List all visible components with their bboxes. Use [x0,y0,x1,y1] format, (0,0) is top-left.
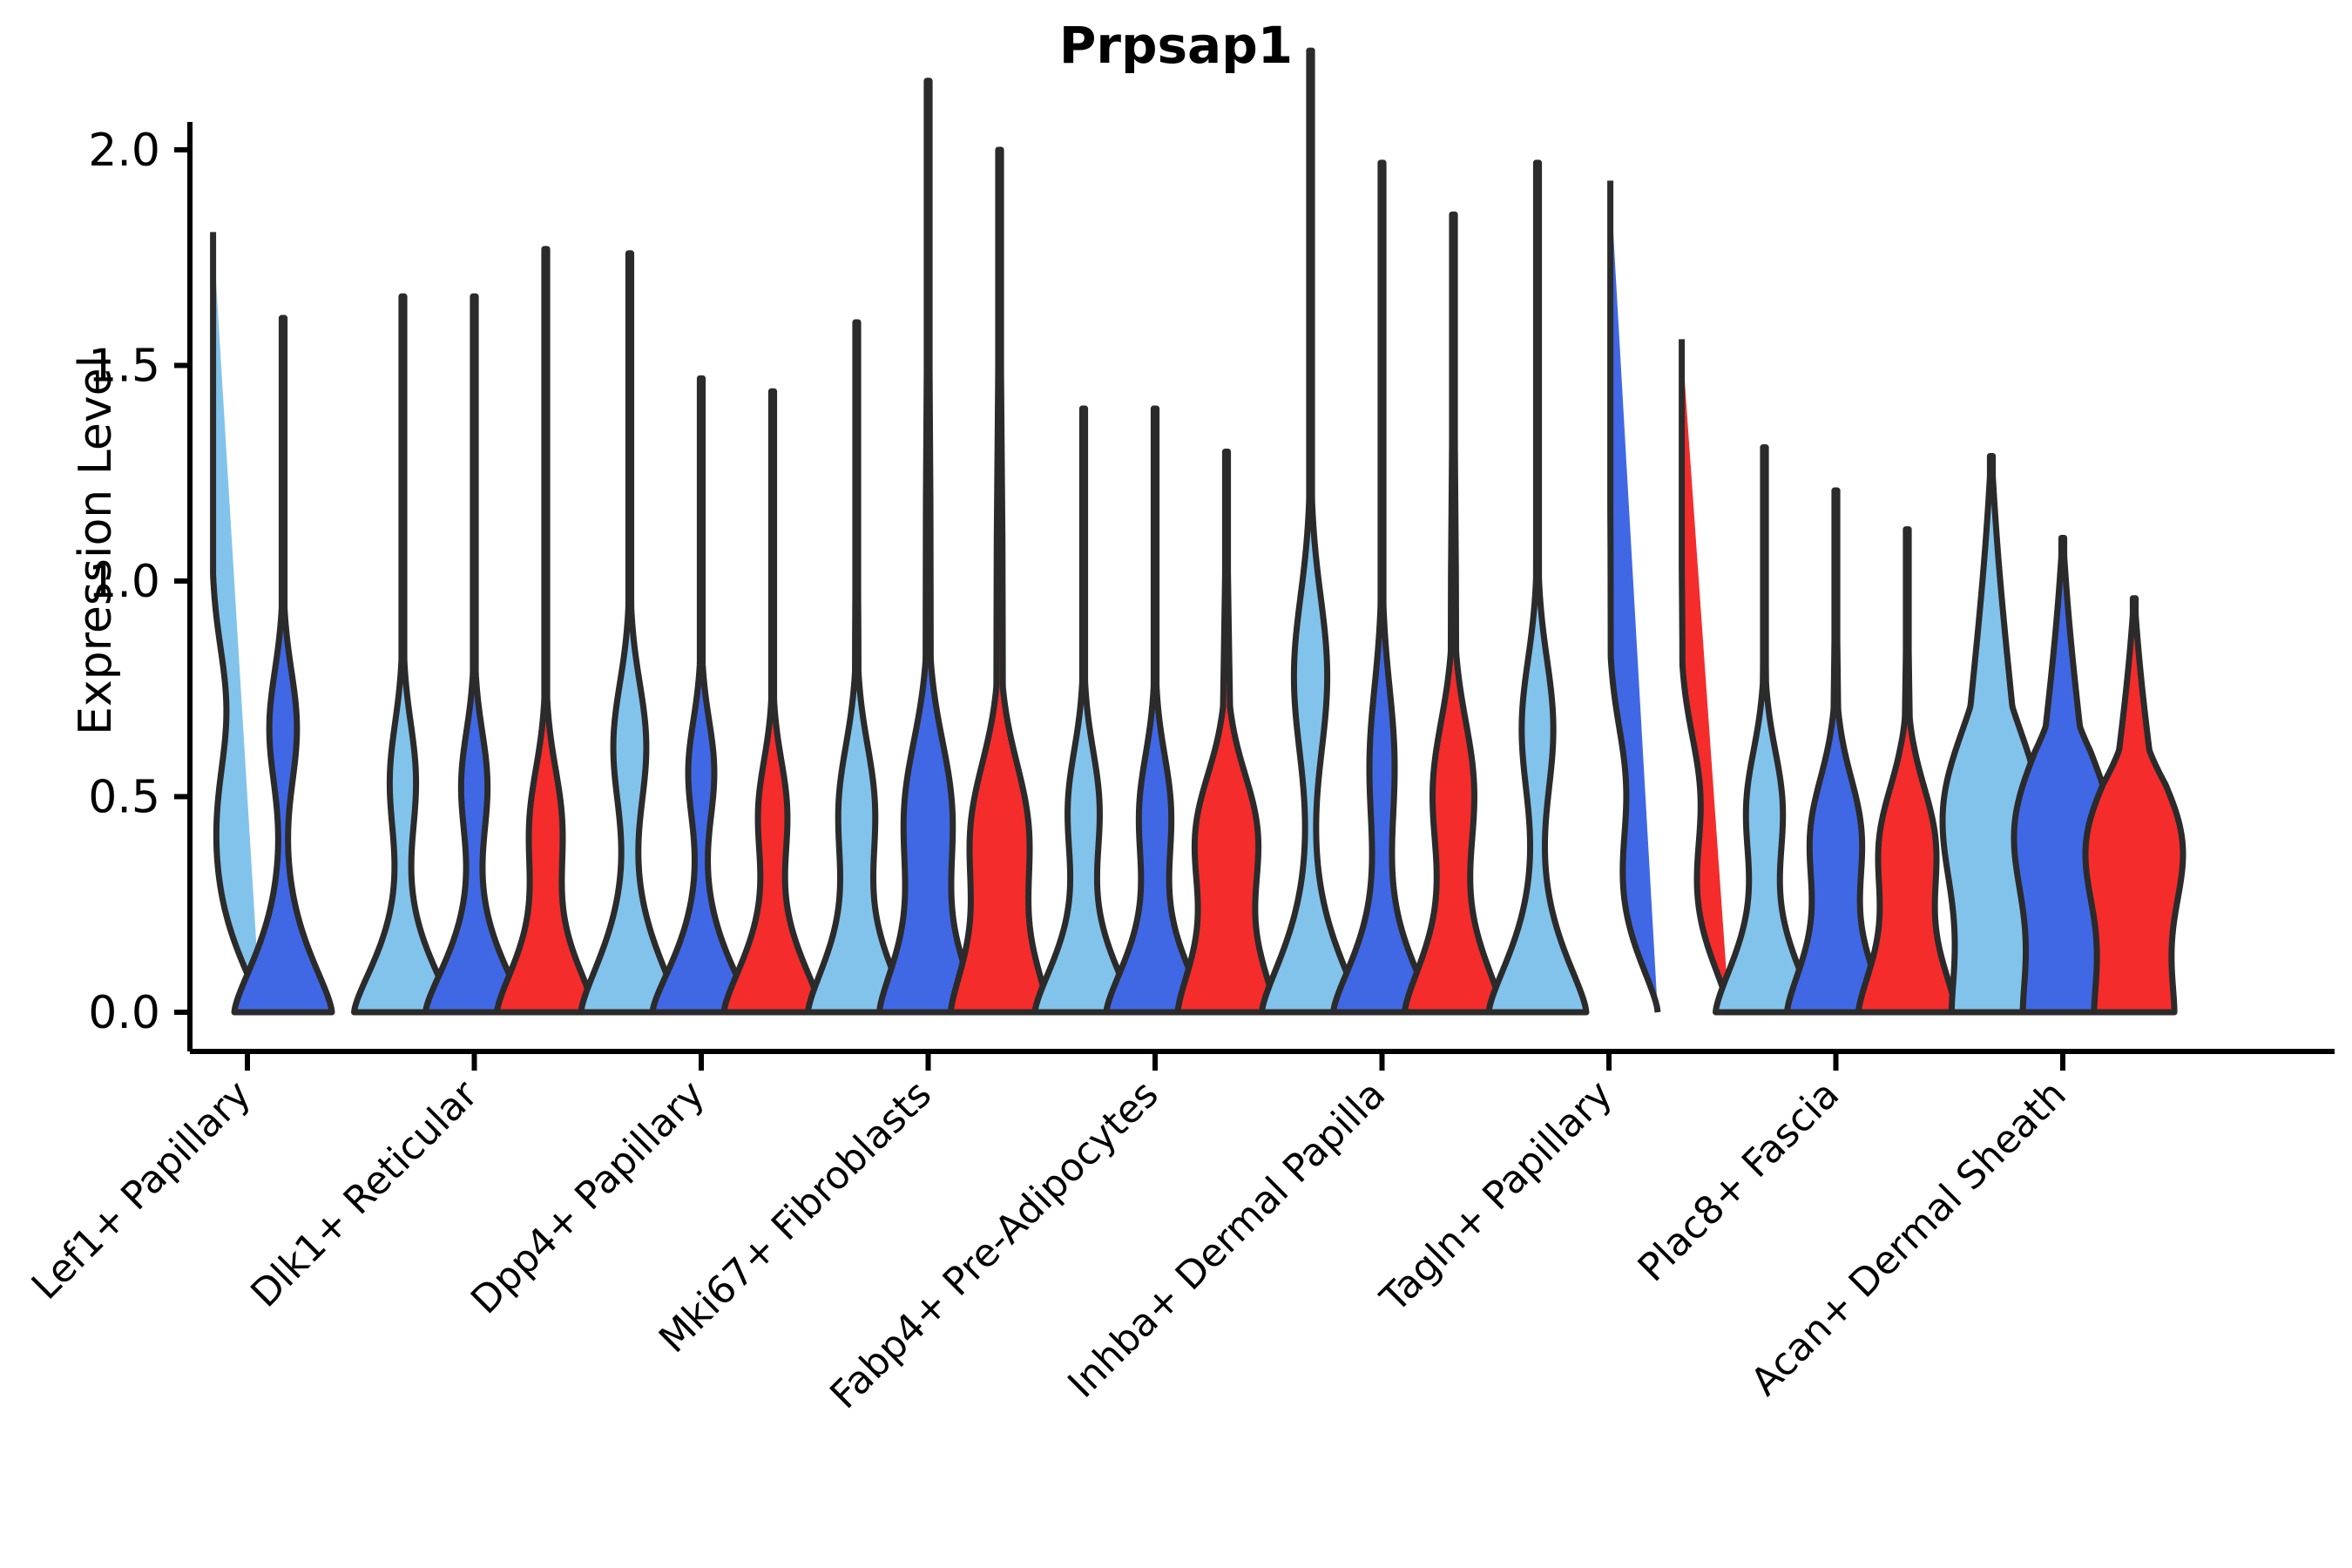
violin-4-3 [951,150,1049,1012]
violin-2-2 [426,296,524,1012]
y-tick-label-0: 0.0 [88,987,160,1039]
y-tick-label-4: 2.0 [88,125,160,177]
violin-8-1 [1716,448,1814,1012]
violin-5-1 [1035,409,1132,1012]
x-tick-label-2: Dpp4+ Papillary [463,1072,713,1323]
x-tick-label-7: Plac8+ Fascia [1630,1072,1848,1291]
violin-6-2 [1334,163,1431,1012]
violin-9-3 [2085,598,2183,1012]
violin-plot-figure: Prpsap1 Expression Level 0.00.51.01.52.0… [0,0,2352,1568]
y-tick-label-3: 1.5 [88,341,160,393]
violin-2-3 [497,249,595,1012]
x-tick-label-0: Lef1+ Papillary [24,1072,260,1308]
violin-8-2 [1788,490,1885,1012]
violins-layer [213,51,2183,1012]
violin-2-1 [355,296,452,1012]
violin-1-1 [213,232,260,1012]
x-tick-labels: Lef1+ PapillaryDlk1+ ReticularDpp4+ Papi… [24,1071,2075,1417]
violin-3-3 [724,391,821,1012]
violin-7-1 [1489,163,1586,1012]
x-tick-label-1: Dlk1+ Reticular [242,1071,487,1316]
violin-3-1 [581,253,679,1012]
x-tick-label-6: Tagln+ Papillary [1372,1072,1621,1321]
violin-4-1 [808,322,906,1012]
y-tick-label-2: 1.0 [88,556,160,608]
violin-3-2 [652,378,750,1012]
violin-8-3 [1859,530,1957,1012]
y-tick-labels: 0.00.51.01.52.0 [88,125,160,1039]
violin-4-2 [880,81,977,1012]
y-tick-label-1: 0.5 [88,772,160,824]
violin-5-2 [1106,409,1204,1012]
chart-canvas: 0.00.51.01.52.0 Lef1+ PapillaryDlk1+ Ret… [0,0,2352,1568]
violin-7-2 [1611,180,1658,1012]
violin-6-3 [1405,214,1503,1012]
violin-6-1 [1262,51,1360,1012]
violin-5-3 [1178,452,1275,1013]
violin-7-3 [1682,339,1729,1012]
